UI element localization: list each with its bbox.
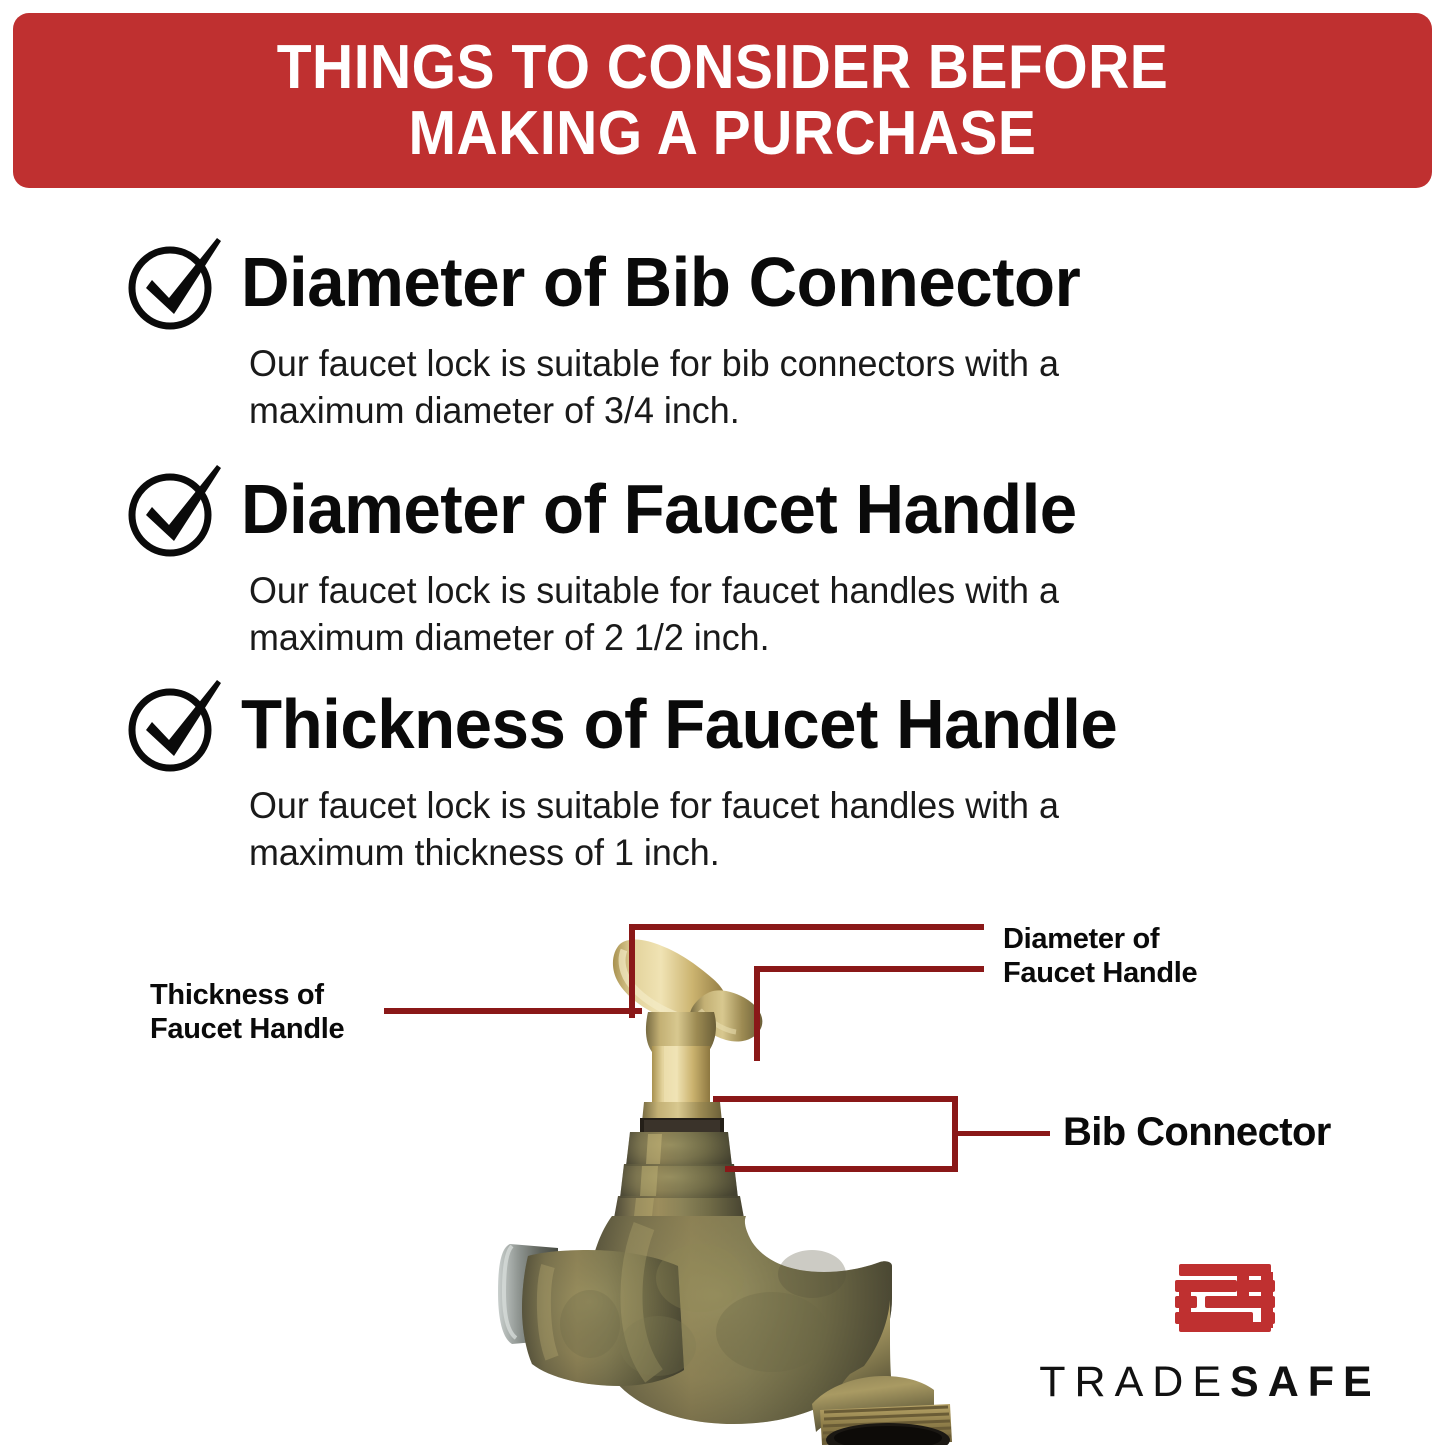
feature-item-faucet-handle-thickness: Thickness of Faucet Handle Our faucet lo… [0, 678, 1445, 774]
logo-word-safe: SAFE [1230, 1358, 1381, 1406]
feature-description: Our faucet lock is suitable for faucet h… [249, 567, 1180, 661]
feature-item-faucet-handle-diameter: Diameter of Faucet Handle Our faucet loc… [0, 463, 1445, 559]
feature-title: Thickness of Faucet Handle [241, 676, 1117, 772]
logo-word-trade: TRADE [1039, 1358, 1230, 1406]
callout-thickness-of-faucet-handle: Thickness of Faucet Handle [150, 978, 344, 1046]
feature-description: Our faucet lock is suitable for bib conn… [249, 340, 1180, 434]
leader-line-diameter-vertical-right [754, 966, 760, 1061]
check-circle-icon [124, 236, 228, 332]
brass-hose-bib-faucet-photo [472, 926, 972, 1445]
tradesafe-wordmark: TRADESAFE [1010, 1358, 1410, 1407]
feature-item-bib-connector-diameter: Diameter of Bib Connector Our faucet loc… [0, 236, 1445, 332]
leader-line-bib-stub [958, 1131, 1050, 1136]
tradesafe-monogram-icon [1175, 1262, 1275, 1334]
leader-line-thickness [384, 1008, 642, 1014]
feature-description: Our faucet lock is suitable for faucet h… [249, 782, 1180, 876]
header-banner: THINGS TO CONSIDER BEFORE MAKING A PURCH… [13, 13, 1432, 188]
check-circle-icon [124, 678, 228, 774]
banner-title: THINGS TO CONSIDER BEFORE MAKING A PURCH… [277, 35, 1168, 166]
leader-line-diameter-vertical-left [629, 924, 635, 1018]
tradesafe-logo: TRADESAFE [1010, 1262, 1410, 1427]
leader-bracket-bib-top [713, 1096, 958, 1102]
feature-heading-row: Thickness of Faucet Handle [0, 678, 1445, 774]
leader-line-diameter-top [629, 924, 984, 930]
check-circle-icon [124, 463, 228, 559]
feature-title: Diameter of Bib Connector [241, 234, 1080, 330]
leader-bracket-bib-bottom [725, 1166, 958, 1172]
callout-diameter-of-faucet-handle: Diameter of Faucet Handle [1003, 922, 1197, 990]
callout-bib-connector: Bib Connector [1063, 1110, 1331, 1154]
leader-line-diameter-bottom [754, 966, 984, 972]
feature-heading-row: Diameter of Bib Connector [0, 236, 1445, 332]
feature-heading-row: Diameter of Faucet Handle [0, 463, 1445, 559]
feature-title: Diameter of Faucet Handle [241, 461, 1077, 557]
